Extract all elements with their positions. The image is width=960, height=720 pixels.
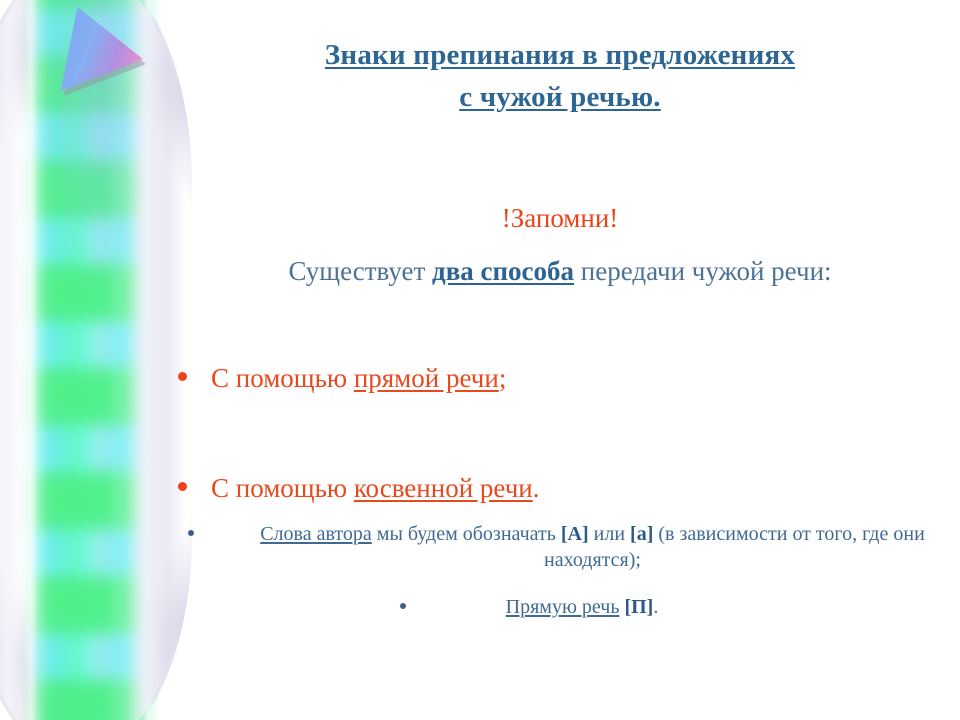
sub-1-underlined: Слова автора (260, 523, 372, 545)
subbullet-dot-icon (188, 530, 194, 536)
bullet-1-prefix: С помощью (211, 363, 354, 393)
bullet-2-text: С помощью косвенной речи. (211, 472, 539, 504)
sub-1-mid2: или (589, 523, 630, 545)
sub-1-mid1: мы будем обозначать (372, 523, 561, 545)
bullet-1-underlined: прямой речи (354, 363, 499, 393)
sub-1-bold-a: [а] (630, 523, 653, 545)
subbullet-dot-icon (400, 603, 406, 609)
triangle-shadow (62, 12, 146, 96)
intro-prefix: Существует (288, 256, 432, 286)
intro-emphasis: два способа (432, 256, 574, 286)
subbullet-direct-speech-marker: Прямую речь [П]. (400, 594, 740, 620)
title-line-2: с чужой речью. (160, 76, 960, 118)
band-inner-shell (0, 0, 186, 720)
subbullet-author-words: Слова автора мы будем обозначать [А] или… (188, 521, 960, 573)
band-color-strip (33, 0, 146, 720)
bullet-2-underlined: косвенной речи (354, 473, 533, 503)
sub-2-underlined: Прямую речь (506, 596, 620, 618)
bullet-item-indirect-speech: С помощью косвенной речи. (178, 472, 539, 504)
bullet-2-suffix: . (533, 473, 540, 503)
remember-callout: !Запомни! (160, 202, 960, 234)
intro-suffix: передачи чужой речи: (574, 256, 831, 286)
sub-2-tail: . (653, 596, 658, 618)
bullet-dot-icon (178, 482, 187, 491)
intro-sentence: Существует два способа передачи чужой ре… (160, 255, 960, 289)
triangle-ornament-icon (59, 7, 143, 91)
sub-1-bold-A: [А] (561, 523, 589, 545)
bullet-dot-icon (178, 372, 187, 381)
title-line-1-text: Знаки препинания в предложениях (325, 39, 795, 71)
slide-canvas: Знаки препинания в предложениях с чужой … (0, 0, 960, 720)
title-line-2-text: с чужой речью. (459, 81, 661, 113)
sub-2-bold-P: [П] (624, 596, 653, 618)
bullet-2-prefix: С помощью (211, 473, 354, 503)
slide-title: Знаки препинания в предложениях с чужой … (160, 34, 960, 118)
bullet-1-text: С помощью прямой речи; (211, 362, 506, 394)
slide-content: Знаки препинания в предложениях с чужой … (160, 0, 960, 720)
bullet-item-direct-speech: С помощью прямой речи; (178, 362, 506, 394)
band-highlight (33, 0, 146, 720)
title-line-1: Знаки препинания в предложениях (160, 34, 960, 76)
bullet-1-suffix: ; (499, 363, 507, 393)
band-side-fade (28, 0, 152, 720)
